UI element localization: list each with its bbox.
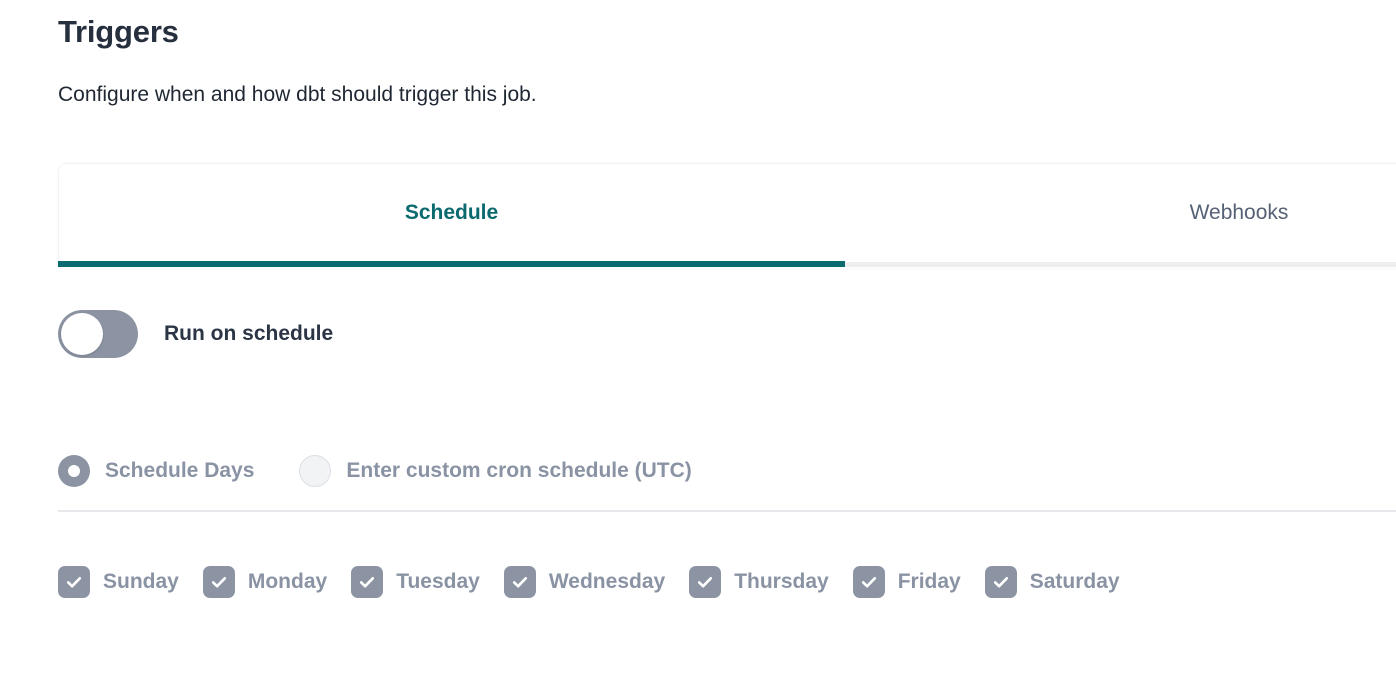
day-checkbox-wednesday[interactable]: Wednesday	[504, 566, 665, 598]
checkmark-icon	[985, 566, 1017, 598]
run-on-schedule-row: Run on schedule	[58, 310, 333, 358]
radio-selected-icon	[58, 455, 90, 487]
tab-webhooks[interactable]: Webhooks	[845, 163, 1396, 263]
day-label-sunday: Sunday	[103, 570, 179, 594]
day-label-tuesday: Tuesday	[396, 570, 480, 594]
day-checkbox-monday[interactable]: Monday	[203, 566, 327, 598]
tab-schedule[interactable]: Schedule	[58, 163, 845, 263]
run-on-schedule-toggle[interactable]	[58, 310, 138, 358]
checkmark-icon	[689, 566, 721, 598]
checkmark-icon	[853, 566, 885, 598]
checkmark-icon	[351, 566, 383, 598]
day-checkbox-tuesday[interactable]: Tuesday	[351, 566, 480, 598]
checkmark-icon	[203, 566, 235, 598]
section-divider	[58, 510, 1396, 512]
triggers-page: Triggers Configure when and how dbt shou…	[0, 0, 1396, 680]
radio-unselected-icon	[299, 455, 331, 487]
run-on-schedule-label: Run on schedule	[164, 322, 333, 346]
schedule-days-group: Sunday Monday Tuesday Wednesday Thursday	[58, 566, 1120, 598]
page-subtitle: Configure when and how dbt should trigge…	[58, 80, 537, 110]
checkmark-icon	[504, 566, 536, 598]
radio-label-schedule-days: Schedule Days	[105, 459, 254, 483]
checkmark-icon	[58, 566, 90, 598]
radio-label-custom-cron: Enter custom cron schedule (UTC)	[346, 459, 691, 483]
day-label-thursday: Thursday	[734, 570, 829, 594]
day-checkbox-thursday[interactable]: Thursday	[689, 566, 829, 598]
page-title: Triggers	[58, 12, 179, 52]
day-checkbox-friday[interactable]: Friday	[853, 566, 961, 598]
toggle-knob-icon	[61, 313, 103, 355]
tab-active-indicator	[58, 261, 845, 267]
schedule-mode-radio-group: Schedule Days Enter custom cron schedule…	[58, 455, 692, 487]
radio-option-custom-cron[interactable]: Enter custom cron schedule (UTC)	[299, 455, 691, 487]
radio-option-schedule-days[interactable]: Schedule Days	[58, 455, 254, 487]
day-label-wednesday: Wednesday	[549, 570, 665, 594]
day-label-friday: Friday	[898, 570, 961, 594]
day-checkbox-saturday[interactable]: Saturday	[985, 566, 1120, 598]
day-label-monday: Monday	[248, 570, 327, 594]
day-checkbox-sunday[interactable]: Sunday	[58, 566, 179, 598]
day-label-saturday: Saturday	[1030, 570, 1120, 594]
